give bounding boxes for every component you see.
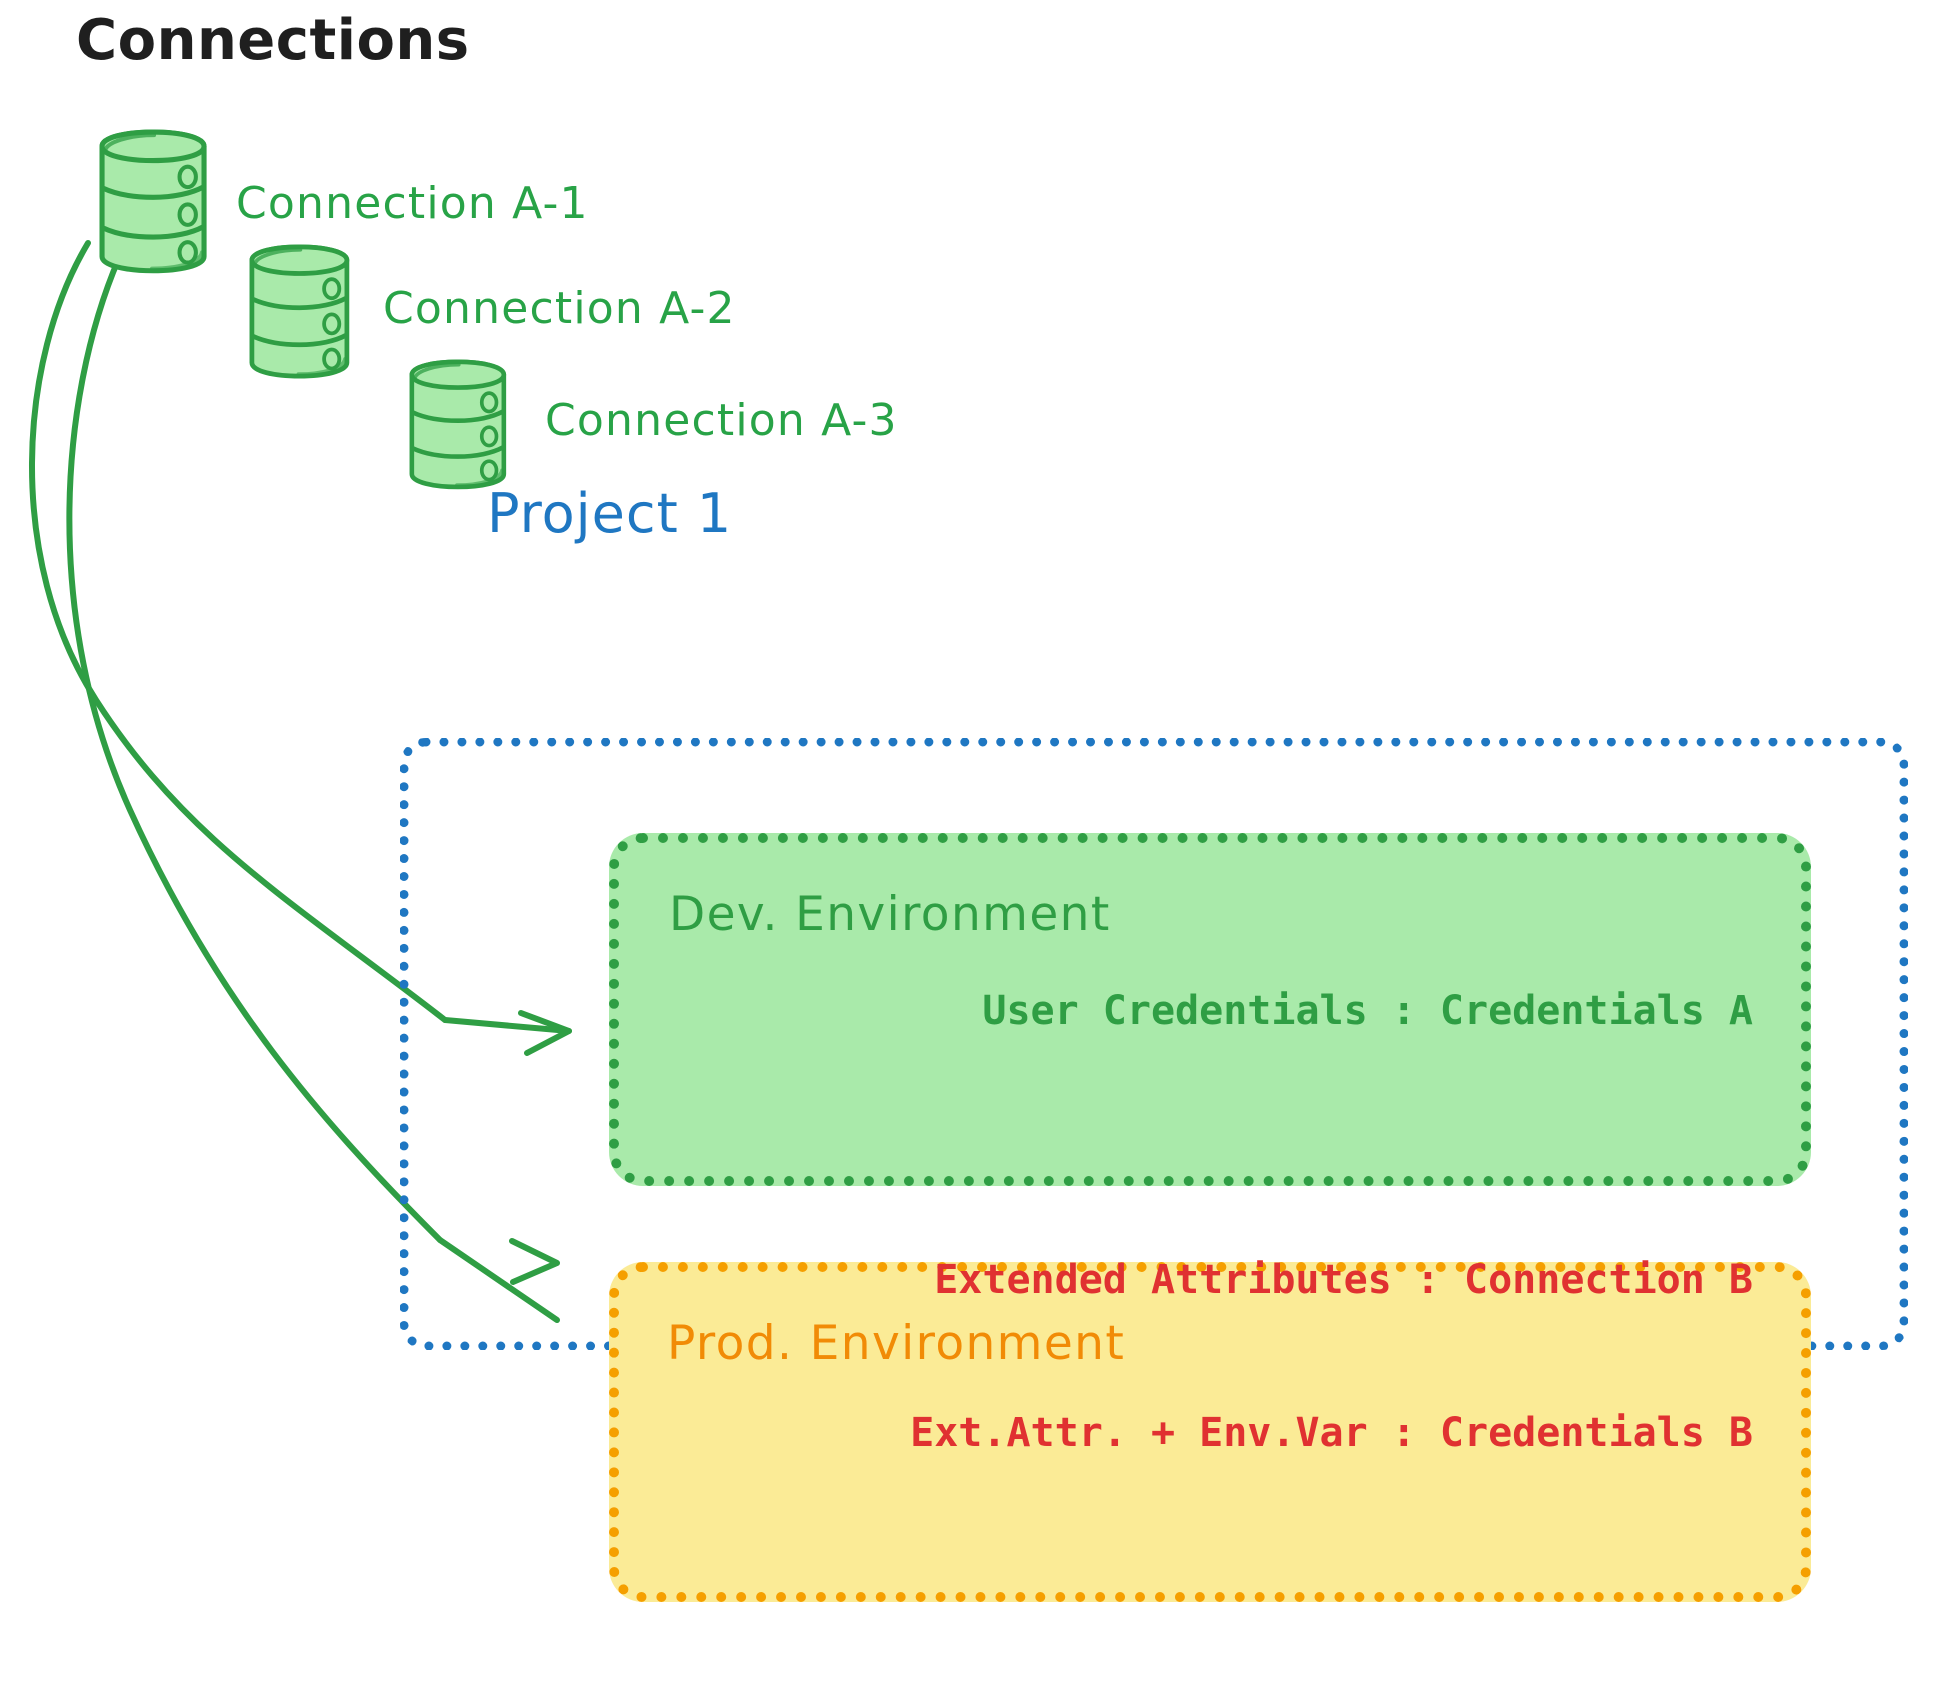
connections-heading: Connections (76, 8, 470, 73)
prod-environment-box: Prod. Environment Extended Attributes : … (609, 1262, 1811, 1602)
connection-label-a3: Connection A-3 (545, 395, 898, 446)
project-title: Project 1 (487, 482, 732, 545)
dev-environment-rows: User Credentials : Credentials A (982, 884, 1753, 1140)
prod-row-1: Ext.Attr. + Env.Var : Credentials B (910, 1408, 1753, 1459)
dev-environment-box: Dev. Environment User Credentials : Cred… (609, 833, 1811, 1186)
diagram-canvas: Connections (0, 0, 1938, 1691)
connection-label-a1: Connection A-1 (236, 178, 589, 229)
connection-label-a2: Connection A-2 (383, 283, 736, 334)
dev-row-0: User Credentials : Credentials A (982, 986, 1753, 1037)
prod-row-0: Extended Attributes : Connection B (910, 1255, 1753, 1306)
prod-environment-rows: Extended Attributes : Connection B Ext.A… (910, 1153, 1753, 1563)
